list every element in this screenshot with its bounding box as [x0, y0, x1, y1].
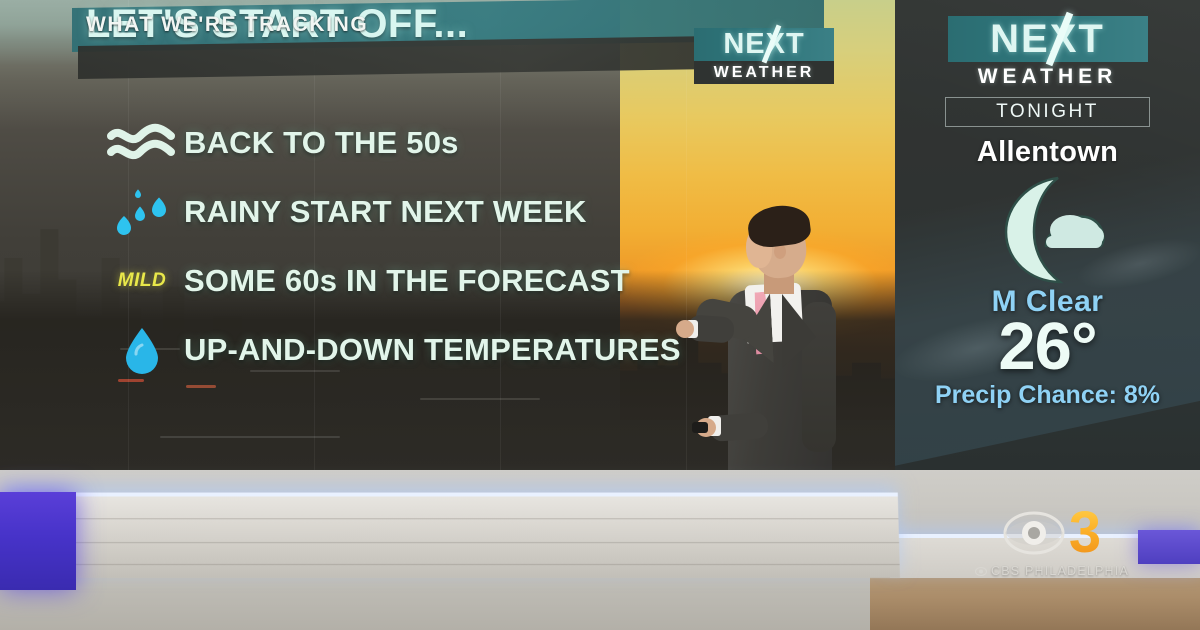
weather-logo-text: WEATHER — [978, 66, 1118, 87]
list-item-label: RAINY START NEXT WEEK — [184, 194, 587, 230]
next-logo-text: NEXT — [990, 19, 1105, 59]
weather-logo-band: WEATHER — [694, 61, 834, 84]
page-subtitle: WHAT WE'RE TRACKING — [86, 8, 368, 41]
mild-badge-icon: MILD — [100, 270, 184, 292]
wind-waves-icon — [100, 123, 184, 163]
water-droplet-icon — [100, 324, 184, 376]
anchor-desk — [0, 493, 900, 578]
temperature-value: 26° — [903, 315, 1192, 379]
forecast-period-box: TONIGHT — [945, 97, 1150, 127]
presentation-clicker — [692, 422, 708, 433]
station-bug: 3 CBS PHILADELPHIA — [962, 502, 1142, 590]
list-item: RAINY START NEXT WEEK — [100, 177, 720, 246]
next-logo-band: NEXT — [694, 28, 834, 61]
list-item-label: SOME 60s IN THE FORECAST — [184, 263, 630, 299]
tracking-list: BACK TO THE 50s RAINY START NEXT WEEK MI… — [100, 108, 720, 384]
channel-number: 3 — [1069, 504, 1101, 562]
list-item-label: UP-AND-DOWN TEMPERATURES — [184, 332, 681, 368]
broadcast-screenshot: LET'S START OFF... WHAT WE'RE TRACKING N… — [0, 0, 1200, 630]
weather-logo-text: WEATHER — [714, 65, 815, 81]
forecast-period-label: TONIGHT — [996, 101, 1099, 123]
cbs-eye-small-icon — [975, 567, 987, 576]
desk-led-left — [0, 492, 76, 590]
rain-droplets-icon — [100, 184, 184, 240]
precip-chance: Precip Chance: 8% — [903, 381, 1192, 410]
station-label: CBS PHILADELPHIA — [991, 564, 1129, 578]
header-banner: LET'S START OFF... WHAT WE'RE TRACKING N… — [72, 8, 824, 90]
list-item: UP-AND-DOWN TEMPERATURES — [100, 315, 720, 384]
weather-logo-band: WEATHER — [948, 63, 1148, 89]
cbs-eye-icon — [1003, 511, 1065, 555]
mild-badge-text: MILD — [118, 270, 166, 292]
moon-with-cloud-icon — [903, 171, 1192, 289]
next-weather-logo-header: NEXT WEATHER — [694, 28, 834, 84]
list-item: BACK TO THE 50s — [100, 108, 720, 177]
next-logo-band: NEXT — [948, 16, 1148, 62]
list-item-label: BACK TO THE 50s — [184, 125, 459, 161]
list-item: MILD SOME 60s IN THE FORECAST — [100, 246, 720, 315]
forecast-panel: NEXT WEATHER TONIGHT Allentown — [895, 0, 1200, 470]
next-weather-logo-panel: NEXT WEATHER — [903, 16, 1192, 89]
desk-led-right — [1138, 530, 1200, 564]
city-name: Allentown — [903, 136, 1192, 169]
